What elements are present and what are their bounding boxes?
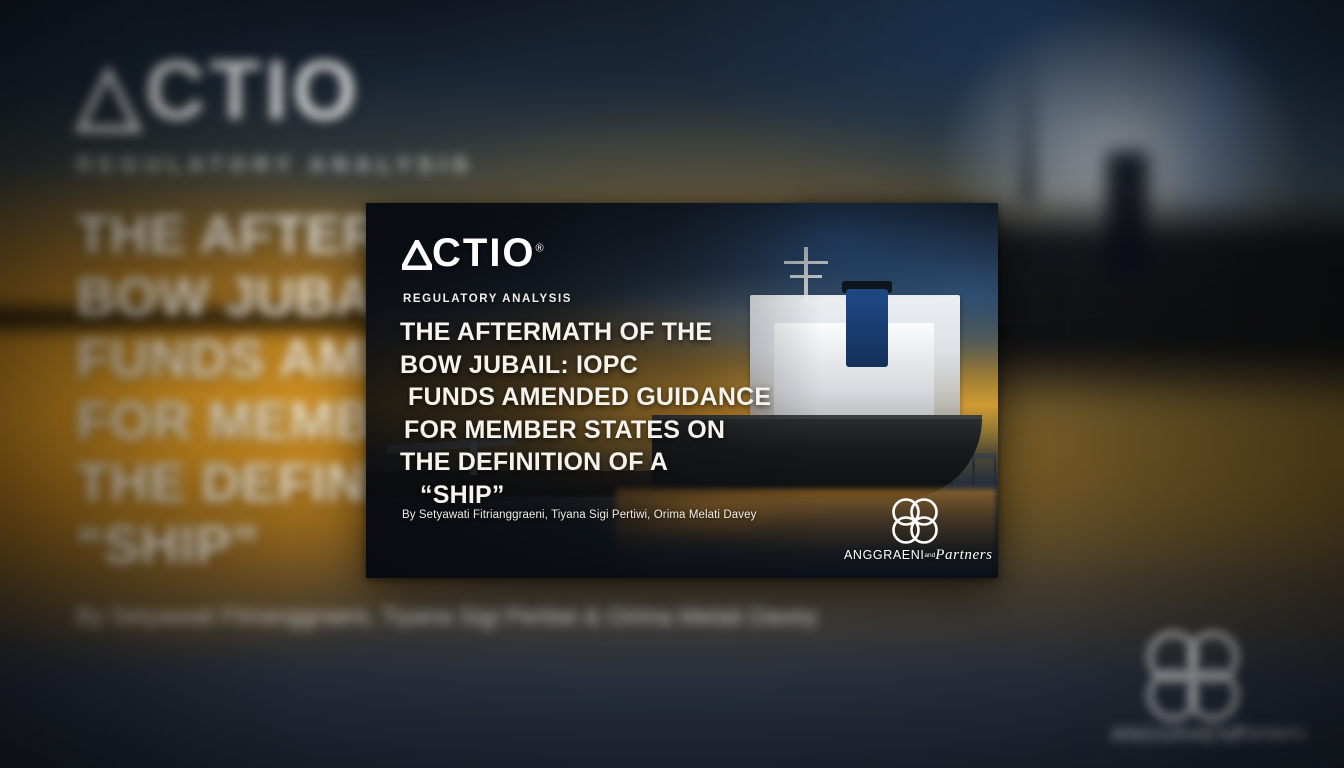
firm-name: ANGGRAENI [844,548,924,562]
title-line: FOR MEMBER STATES ON [400,414,780,447]
article-cover-card[interactable]: CTIO® REGULATORY ANALYSIS THE AFTERMATH … [366,203,998,578]
firm-and: and [924,552,935,559]
actio-wordmark: CTIO [432,231,536,275]
card-content: CTIO® REGULATORY ANALYSIS THE AFTERMATH … [366,203,998,578]
title-line: BOW JUBAIL: IOPC [400,349,780,382]
title-line: THE DEFINITION OF A [400,446,780,479]
ap-monogram-icon [886,497,944,545]
title-line: FUNDS AMENDED GUIDANCE [400,381,780,414]
article-byline: By Setyawati Fitrianggraeni, Tiyana Sigi… [402,509,756,521]
anggraeni-partners-logo[interactable]: ANGGRAENIandPartners [844,497,984,569]
article-title: THE AFTERMATH OF THE BOW JUBAIL: IOPC FU… [400,316,780,511]
title-line: THE AFTERMATH OF THE [400,316,780,349]
registered-trademark-icon: ® [536,243,544,255]
anggraeni-partners-wordmark: ANGGRAENIandPartners [844,547,984,564]
actio-triangle-icon [402,240,432,270]
regulatory-analysis-label: REGULATORY ANALYSIS [403,293,572,305]
firm-partners: Partners [935,547,992,563]
actio-logo[interactable]: CTIO® [402,233,544,273]
title-line: “SHIP” [400,479,780,512]
